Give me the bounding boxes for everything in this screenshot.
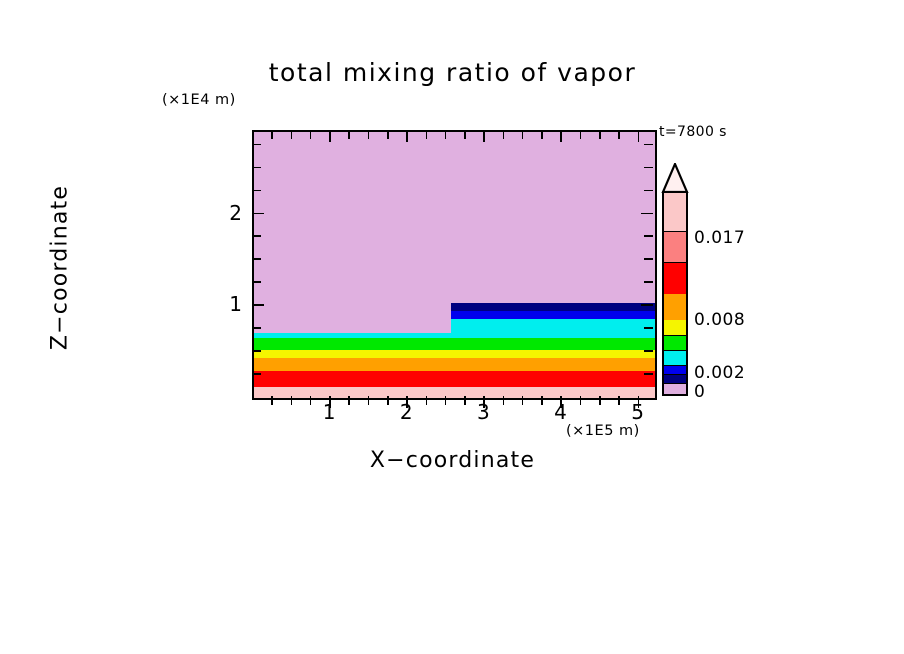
contour-band <box>451 386 655 398</box>
x-tick <box>291 396 293 405</box>
contour-band <box>254 358 451 371</box>
y-tick <box>252 235 261 237</box>
x-tick <box>483 130 485 142</box>
contour-band <box>451 337 655 350</box>
contour-band <box>451 349 655 358</box>
contour-band <box>254 370 451 386</box>
contour-field <box>254 132 655 398</box>
x-tick-label: 2 <box>400 400 413 424</box>
x-tick <box>618 130 620 139</box>
x-tick <box>426 130 428 139</box>
y-tick <box>252 304 264 306</box>
x-tick <box>445 130 447 139</box>
y-tick <box>644 144 653 146</box>
x-tick <box>580 396 582 405</box>
y-tick <box>252 258 261 260</box>
y-tick-label: 1 <box>222 292 242 316</box>
colorbar-cell <box>664 231 686 263</box>
colorbar-cell <box>664 349 686 365</box>
colorbar-cell <box>664 364 686 374</box>
y-tick <box>252 281 261 283</box>
x-axis-unit-label: (×1E5 m) <box>566 423 640 439</box>
x-tick <box>329 130 331 142</box>
time-annotation: t=7800 s <box>659 124 727 140</box>
figure-canvas: total mixing ratio of vapor (×1E4 m) (×1… <box>0 0 904 654</box>
x-tick <box>291 130 293 139</box>
y-tick <box>644 167 653 169</box>
y-tick <box>644 190 653 192</box>
y-tick <box>252 190 261 192</box>
contour-band <box>451 310 655 319</box>
y-tick <box>252 350 261 352</box>
contour-band <box>254 386 451 398</box>
x-tick <box>522 396 524 405</box>
colorbar-cell <box>664 193 686 232</box>
x-tick <box>445 396 447 405</box>
x-tick <box>560 130 562 142</box>
x-tick <box>541 396 543 405</box>
y-tick <box>252 327 261 329</box>
x-tick <box>464 130 466 139</box>
x-tick <box>310 130 312 139</box>
x-tick <box>464 396 466 405</box>
y-tick <box>252 167 261 169</box>
y-axis-title: Z−coordinate <box>48 148 73 388</box>
x-tick <box>599 130 601 139</box>
x-tick-label: 1 <box>323 400 336 424</box>
x-tick <box>426 396 428 405</box>
colorbar-cell <box>664 373 686 383</box>
x-tick <box>618 396 620 405</box>
y-tick <box>252 373 261 375</box>
colorbar-cell <box>664 334 686 350</box>
colorbar-extend-arrow-icon <box>660 163 690 193</box>
y-tick <box>644 373 653 375</box>
contour-band <box>254 332 451 338</box>
y-tick <box>644 281 653 283</box>
x-tick <box>348 396 350 405</box>
x-tick <box>522 130 524 139</box>
x-tick <box>271 396 273 405</box>
y-tick <box>644 327 653 329</box>
x-tick <box>310 396 312 405</box>
contour-band <box>254 349 451 358</box>
colorbar-tick-label: 0 <box>694 382 705 402</box>
colorbar-tick-label: 0.017 <box>694 228 745 248</box>
x-tick <box>638 130 640 142</box>
x-tick <box>580 130 582 139</box>
colorbar-cell <box>664 382 686 394</box>
x-tick-label: 5 <box>631 400 644 424</box>
colorbar-tick-label: 0.008 <box>694 310 745 330</box>
y-tick <box>644 350 653 352</box>
contour-band <box>451 132 655 303</box>
x-tick <box>368 396 370 405</box>
y-tick <box>252 144 261 146</box>
x-tick <box>368 130 370 139</box>
contour-band <box>451 358 655 371</box>
chart-title: total mixing ratio of vapor <box>252 58 653 87</box>
x-tick <box>406 130 408 142</box>
y-tick <box>641 213 653 215</box>
x-tick <box>503 396 505 405</box>
x-tick <box>387 130 389 139</box>
y-tick-label: 2 <box>222 201 242 225</box>
colorbar-cell <box>664 319 686 335</box>
colorbar <box>662 191 688 396</box>
x-tick <box>348 130 350 139</box>
colorbar-cell <box>664 293 686 320</box>
x-tick <box>541 130 543 139</box>
y-tick <box>641 304 653 306</box>
colorbar-cell <box>664 262 686 294</box>
plot-area <box>252 130 657 400</box>
x-tick-label: 4 <box>554 400 567 424</box>
contour-band <box>254 132 451 333</box>
colorbar-tick-label: 0.002 <box>694 363 745 383</box>
x-tick <box>387 396 389 405</box>
contour-band <box>451 370 655 386</box>
x-tick <box>271 130 273 139</box>
x-tick <box>503 130 505 139</box>
x-tick-label: 3 <box>477 400 490 424</box>
y-axis-unit-label: (×1E4 m) <box>162 92 236 108</box>
y-tick <box>644 258 653 260</box>
y-tick <box>644 235 653 237</box>
x-axis-title: X−coordinate <box>252 448 653 473</box>
contour-band <box>451 303 655 311</box>
y-tick <box>252 213 264 215</box>
x-tick <box>599 396 601 405</box>
contour-band <box>451 318 655 338</box>
contour-band <box>254 337 451 350</box>
